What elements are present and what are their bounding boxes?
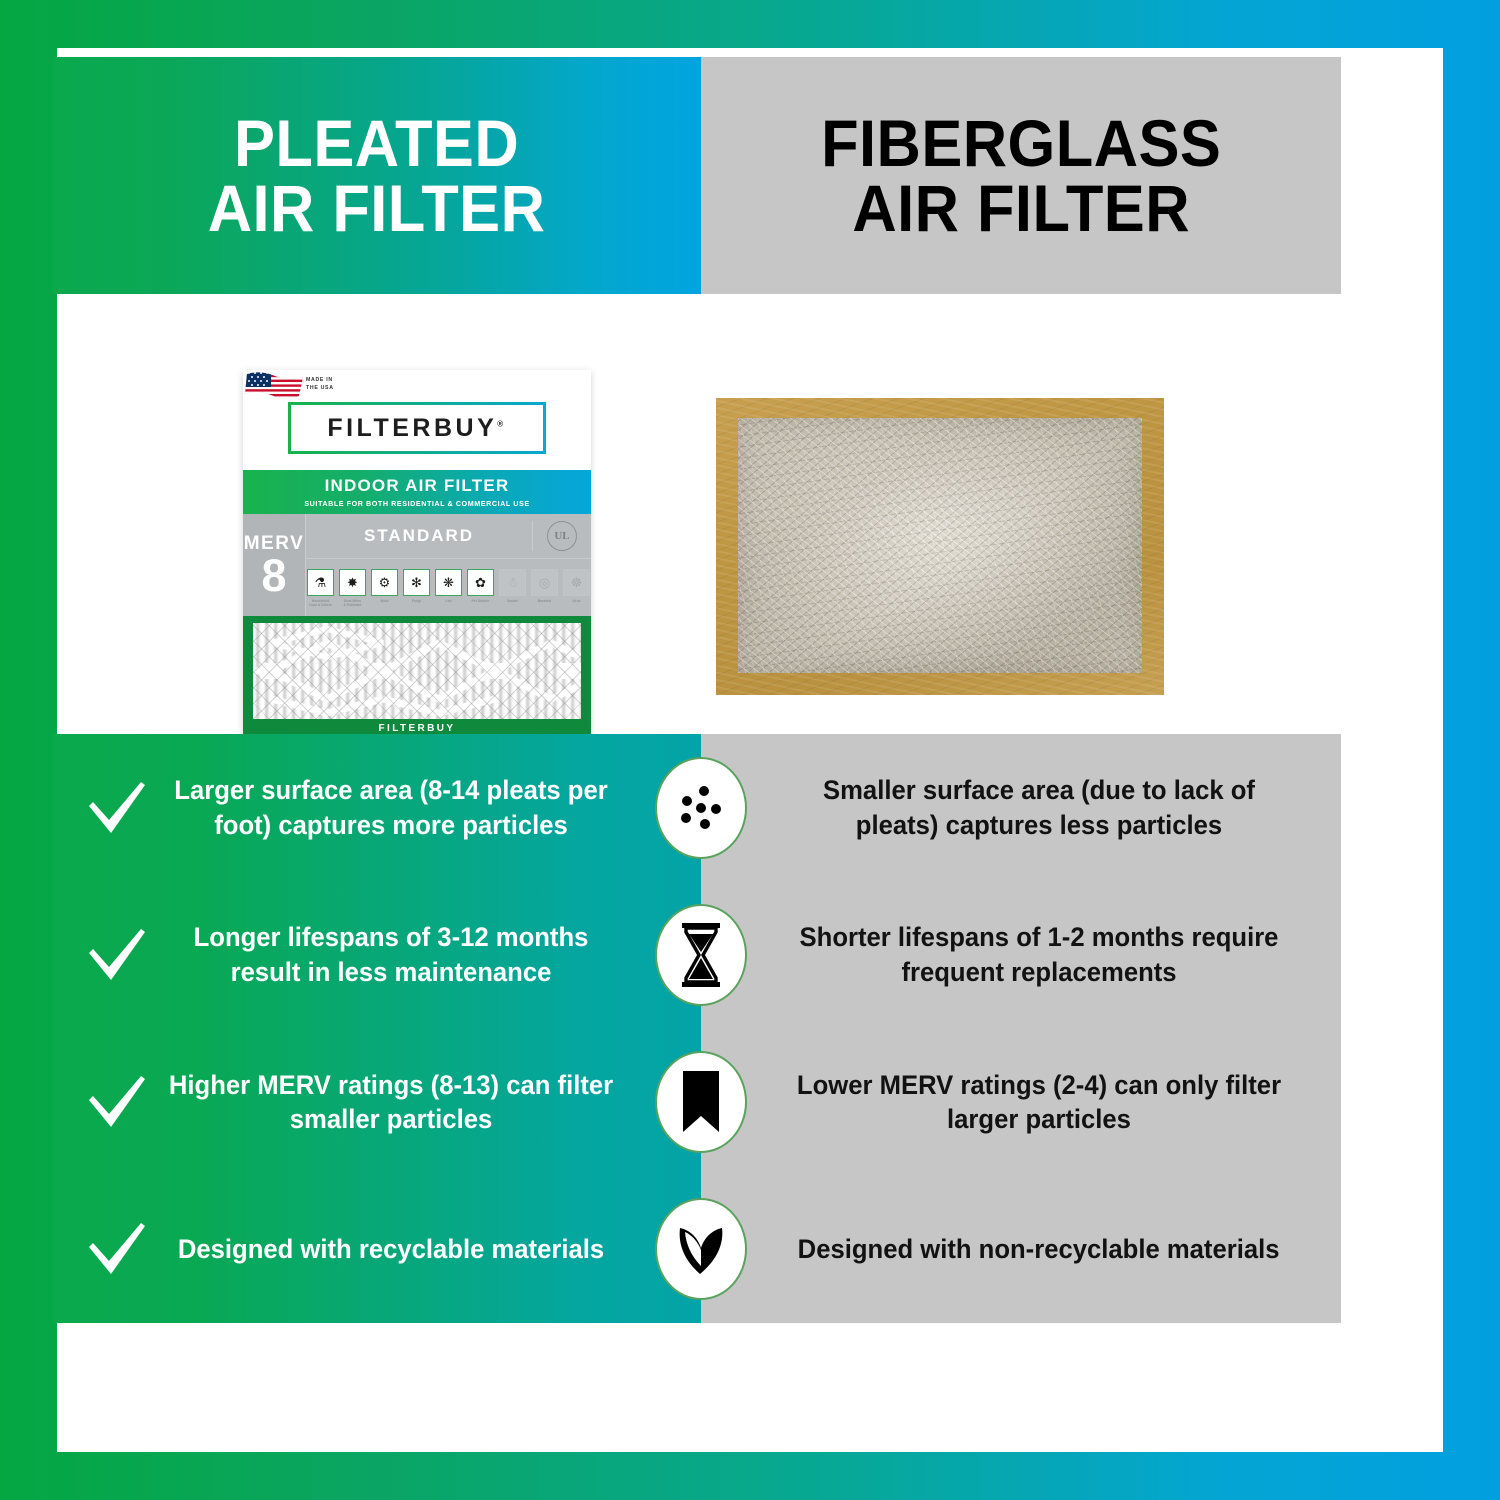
particle-icon: ❋ xyxy=(435,569,462,596)
particle-icon: ☸ xyxy=(563,569,590,596)
header-row: PLEATED AIR FILTER FIBERGLASS AIR FILTER xyxy=(53,57,1341,294)
particle-item: ☃ Smoke xyxy=(498,569,527,603)
comparison-row: Designed with recyclable materials Desig… xyxy=(53,1176,1341,1323)
particle-icon-strip: ⚗ Household Dust & Debris ✸ Dust Mites &… xyxy=(306,559,591,616)
box-top-section: MADE IN THE USA FILTERBUY® xyxy=(243,370,591,470)
comparison-text-pleated: Higher MERV ratings (8-13) can filter sm… xyxy=(165,1068,617,1137)
fiberglass-mesh-texture xyxy=(738,418,1142,673)
ul-certification-mark: UL xyxy=(532,521,591,551)
comparison-row: Higher MERV ratings (8-13) can filter sm… xyxy=(53,1029,1341,1176)
box-spec-section: MERV 8 STANDARD UL ⚗ xyxy=(243,514,591,616)
filterbuy-logo-frame: FILTERBUY® xyxy=(288,402,546,454)
particle-item: ⚗ Household Dust & Debris xyxy=(306,569,335,608)
support-wire-grid-icon xyxy=(253,623,581,719)
particle-icon: ☃ xyxy=(499,569,526,596)
checkmark-icon xyxy=(85,778,149,838)
leaf-icon-glyph xyxy=(672,1220,730,1278)
particle-item: ☸ Virus xyxy=(562,569,591,603)
leaf-icon xyxy=(655,1198,747,1300)
comparison-cell-fiberglass: Designed with non-recyclable materials xyxy=(701,1232,1341,1267)
particle-label: Pet Dander xyxy=(472,599,490,603)
product-cell-pleated: MADE IN THE USA FILTERBUY® INDOOR AIR FI… xyxy=(53,310,701,734)
comparison-cell-pleated: Higher MERV ratings (8-13) can filter sm… xyxy=(53,1068,701,1137)
particle-label: Lint xyxy=(445,599,451,603)
pleated-media-texture xyxy=(253,623,581,719)
header-title-fiberglass: FIBERGLASS AIR FILTER xyxy=(821,111,1221,240)
particle-label: Household Dust & Debris xyxy=(309,599,331,608)
comparison-text-fiberglass: Smaller surface area (due to lack of ple… xyxy=(781,773,1298,842)
particle-label: Fungi xyxy=(412,599,421,603)
checkmark-wrap xyxy=(81,778,153,838)
product-image-row: MADE IN THE USA FILTERBUY® INDOOR AIR FI… xyxy=(53,310,1341,734)
box-bottom-brand: FILTERBUY xyxy=(243,723,591,734)
comparison-cell-pleated: Larger surface area (8-14 pleats per foo… xyxy=(53,773,701,842)
particle-item: ✿ Pet Dander xyxy=(466,569,495,603)
box-spec-right: STANDARD UL ⚗ Household Dust & Debris xyxy=(306,514,591,616)
header-title-pleated: PLEATED AIR FILTER xyxy=(208,111,546,240)
comparison-text-fiberglass: Lower MERV ratings (2-4) can only filter… xyxy=(781,1068,1298,1137)
product-cell-fiberglass xyxy=(701,310,1341,734)
comparison-text-fiberglass: Designed with non-recyclable materials xyxy=(798,1232,1280,1267)
checkmark-wrap xyxy=(81,925,153,985)
particle-label: Virus xyxy=(572,599,580,603)
box-product-band: INDOOR AIR FILTER SUITABLE FOR BOTH RESI… xyxy=(243,470,591,514)
particle-icon: ✸ xyxy=(339,569,366,596)
particle-label: Bacteria xyxy=(538,599,551,603)
comparison-cell-fiberglass: Smaller surface area (due to lack of ple… xyxy=(701,773,1341,842)
particle-item: ⚙ Mold xyxy=(370,569,399,603)
comparison-cell-fiberglass: Shorter lifespans of 1-2 months require … xyxy=(701,920,1341,989)
particles-icon xyxy=(655,757,747,859)
band-subtitle: SUITABLE FOR BOTH RESIDENTIAL & COMMERCI… xyxy=(304,499,529,508)
comparison-cell-pleated: Longer lifespans of 3-12 months result i… xyxy=(53,920,701,989)
header-panel-fiberglass: FIBERGLASS AIR FILTER xyxy=(701,57,1341,294)
particle-icon: ⚗ xyxy=(307,569,334,596)
checkmark-wrap xyxy=(81,1072,153,1132)
checkmark-icon xyxy=(85,1219,149,1279)
particle-icon: ✻ xyxy=(403,569,430,596)
ul-circle-icon: UL xyxy=(547,521,577,551)
comparison-rows: Larger surface area (8-14 pleats per foo… xyxy=(53,734,1341,1323)
checkmark-icon xyxy=(85,1072,149,1132)
particles-icon-glyph xyxy=(670,777,732,839)
particle-label: Dust Mites & Pollutant xyxy=(344,599,362,608)
comparison-panel: Larger surface area (8-14 pleats per foo… xyxy=(53,734,1341,1323)
checkmark-wrap xyxy=(81,1219,153,1279)
particle-item: ✻ Fungi xyxy=(402,569,431,603)
filterbuy-pleated-filter-box: MADE IN THE USA FILTERBUY® INDOOR AIR FI… xyxy=(243,370,591,738)
tier-row: STANDARD UL xyxy=(306,514,591,559)
trademark-symbol: ® xyxy=(497,419,506,428)
merv-value: 8 xyxy=(261,555,286,598)
pleated-media-section: FILTERBUY xyxy=(243,616,591,738)
particle-item: ✸ Dust Mites & Pollutant xyxy=(338,569,367,608)
comparison-row: Larger surface area (8-14 pleats per foo… xyxy=(53,734,1341,881)
comparison-cell-pleated: Designed with recyclable materials xyxy=(53,1219,701,1279)
particle-icon: ⚙ xyxy=(371,569,398,596)
bookmark-icon-glyph xyxy=(680,1070,722,1134)
filterbuy-logo-text: FILTERBUY® xyxy=(327,414,506,443)
merv-rating-block: MERV 8 xyxy=(243,514,306,616)
particle-icon: ✿ xyxy=(467,569,494,596)
made-in-usa-label: MADE IN THE USA xyxy=(306,377,334,393)
band-title: INDOOR AIR FILTER xyxy=(325,476,510,496)
usa-flag-icon xyxy=(245,370,307,428)
checkmark-icon xyxy=(85,925,149,985)
particle-label: Mold xyxy=(381,599,389,603)
fiberglass-filter xyxy=(716,398,1164,695)
infographic-root: PLEATED AIR FILTER FIBERGLASS AIR FILTER xyxy=(0,0,1500,1500)
particle-item: ◎ Bacteria xyxy=(530,569,559,603)
header-panel-pleated: PLEATED AIR FILTER xyxy=(53,57,701,294)
comparison-text-pleated: Longer lifespans of 3-12 months result i… xyxy=(165,920,617,989)
hourglass-icon-glyph xyxy=(677,922,725,988)
particle-label: Smoke xyxy=(507,599,518,603)
comparison-cell-fiberglass: Lower MERV ratings (2-4) can only filter… xyxy=(701,1068,1341,1137)
bookmark-icon xyxy=(655,1051,747,1153)
hourglass-icon xyxy=(655,904,747,1006)
comparison-text-pleated: Designed with recyclable materials xyxy=(165,1232,617,1267)
tier-label: STANDARD xyxy=(306,526,532,546)
comparison-text-pleated: Larger surface area (8-14 pleats per foo… xyxy=(165,773,617,842)
brand-name: FILTERBUY xyxy=(327,414,497,442)
particle-item: ❋ Lint xyxy=(434,569,463,603)
comparison-row: Longer lifespans of 3-12 months result i… xyxy=(53,881,1341,1028)
comparison-text-fiberglass: Shorter lifespans of 1-2 months require … xyxy=(781,920,1298,989)
particle-icon: ◎ xyxy=(531,569,558,596)
